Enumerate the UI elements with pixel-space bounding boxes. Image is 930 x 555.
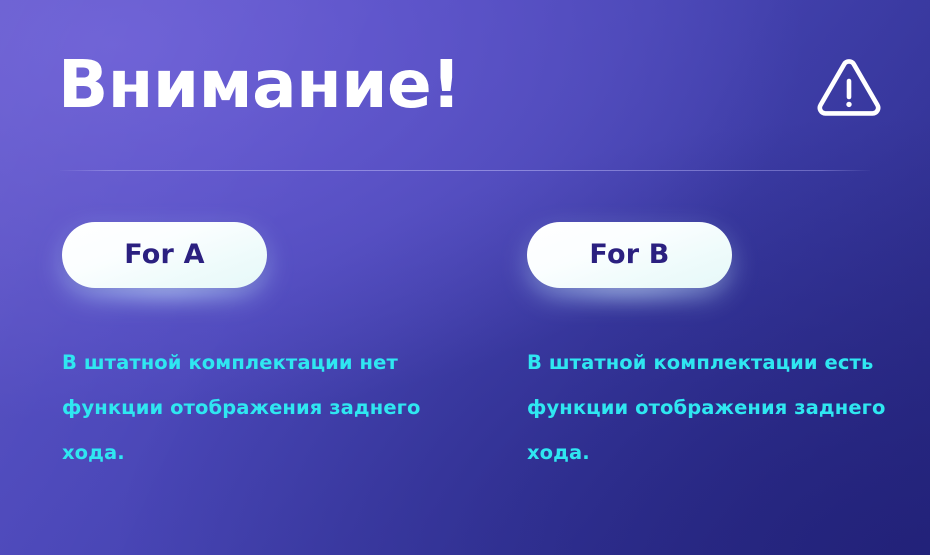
pill-wrapper-b: For B [527, 222, 732, 288]
for-b-description: В штатной комплектации есть функции отоб… [527, 288, 909, 475]
warning-triangle-icon [816, 58, 882, 120]
header-divider [60, 170, 870, 171]
page-title: Внимание! [58, 50, 461, 119]
warning-slide: Внимание! For A В штатной комплектации н… [0, 0, 930, 555]
pill-wrapper-a: For A [62, 222, 267, 288]
comparison-columns: For A В штатной комплектации нет функции… [0, 222, 930, 475]
for-a-button[interactable]: For A [62, 222, 267, 288]
for-b-button[interactable]: For B [527, 222, 732, 288]
